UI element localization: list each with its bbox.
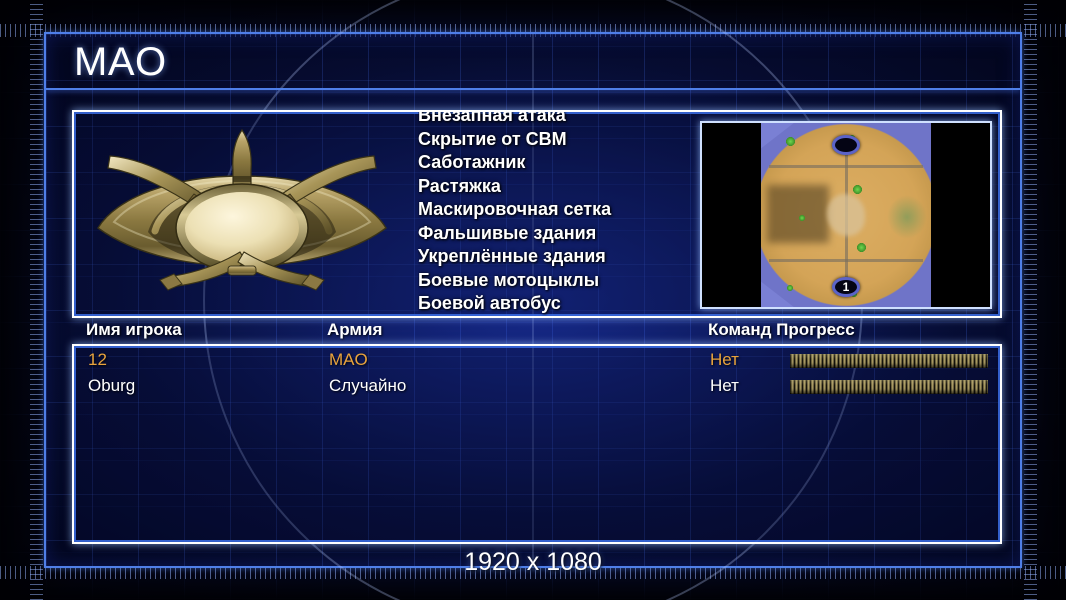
map-resource: [787, 285, 793, 291]
player-name-cell: Oburg: [88, 376, 135, 396]
ruler-right: [1024, 0, 1037, 600]
player-name-cell: 12: [88, 350, 107, 370]
faction-ability-item: Фальшивые здания: [418, 222, 698, 246]
faction-ability-item: Внезапная атака: [418, 110, 698, 128]
map-resource: [786, 137, 795, 146]
roster-column-headers: Имя игрока Армия Команд Прогресс: [72, 320, 1002, 344]
player-roster-rows: 12MAOНетOburgСлучайноНет: [74, 350, 1000, 402]
player-roster-panel: 12MAOНетOburgСлучайноНет: [72, 344, 1002, 544]
faction-info-panel: Внезапная атакаСкрытие от СВМСаботажникР…: [72, 110, 1002, 318]
column-header-army: Армия: [327, 320, 382, 340]
map-resource: [857, 243, 866, 252]
player-team-cell[interactable]: Нет: [710, 376, 739, 396]
player-row[interactable]: 12MAOНет: [74, 350, 1000, 376]
player-army-cell[interactable]: MAO: [329, 350, 368, 370]
faction-ability-list: Внезапная атакаСкрытие от СВМСаботажникР…: [418, 110, 698, 318]
player-team-cell[interactable]: Нет: [710, 350, 739, 370]
faction-ability-item: Растяжка: [418, 175, 698, 199]
map-shadow-region: [767, 185, 829, 243]
gla-emblem-icon: [82, 124, 402, 306]
ruler-left: [30, 0, 43, 600]
faction-ability-item: Маскировочная сетка: [418, 198, 698, 222]
column-header-player-name: Имя игрока: [86, 320, 182, 340]
map-resource: [799, 215, 805, 221]
map-start-position-top[interactable]: [832, 135, 860, 155]
player-row[interactable]: OburgСлучайноНет: [74, 376, 1000, 402]
resolution-label: 1920 x 1080: [0, 548, 1066, 577]
map-preview[interactable]: 1: [700, 121, 992, 309]
title-bar: MAO: [46, 34, 1020, 90]
faction-ability-item: Скрытие от СВМ: [418, 128, 698, 152]
map-resource: [853, 185, 862, 194]
faction-ability-item: Саботажник: [418, 151, 698, 175]
faction-ability-item: Укреплённые здания: [418, 245, 698, 269]
main-frame: MAO: [44, 32, 1022, 568]
faction-emblem: [82, 124, 402, 306]
column-header-team-progress: Команд Прогресс: [708, 320, 855, 340]
page-title: MAO: [74, 40, 167, 85]
map-center-feature: [827, 194, 865, 236]
faction-ability-item: Боевые мотоцыклы: [418, 269, 698, 293]
screen-root: MAO: [0, 0, 1066, 600]
map-vegetation: [887, 195, 927, 239]
map-start-position-bottom[interactable]: 1: [832, 277, 860, 297]
player-progress-bar: [790, 354, 988, 368]
faction-ability-item: Боевой автобус: [418, 292, 698, 316]
player-progress-bar: [790, 380, 988, 394]
map-image: 1: [761, 123, 931, 307]
player-army-cell[interactable]: Случайно: [329, 376, 406, 396]
